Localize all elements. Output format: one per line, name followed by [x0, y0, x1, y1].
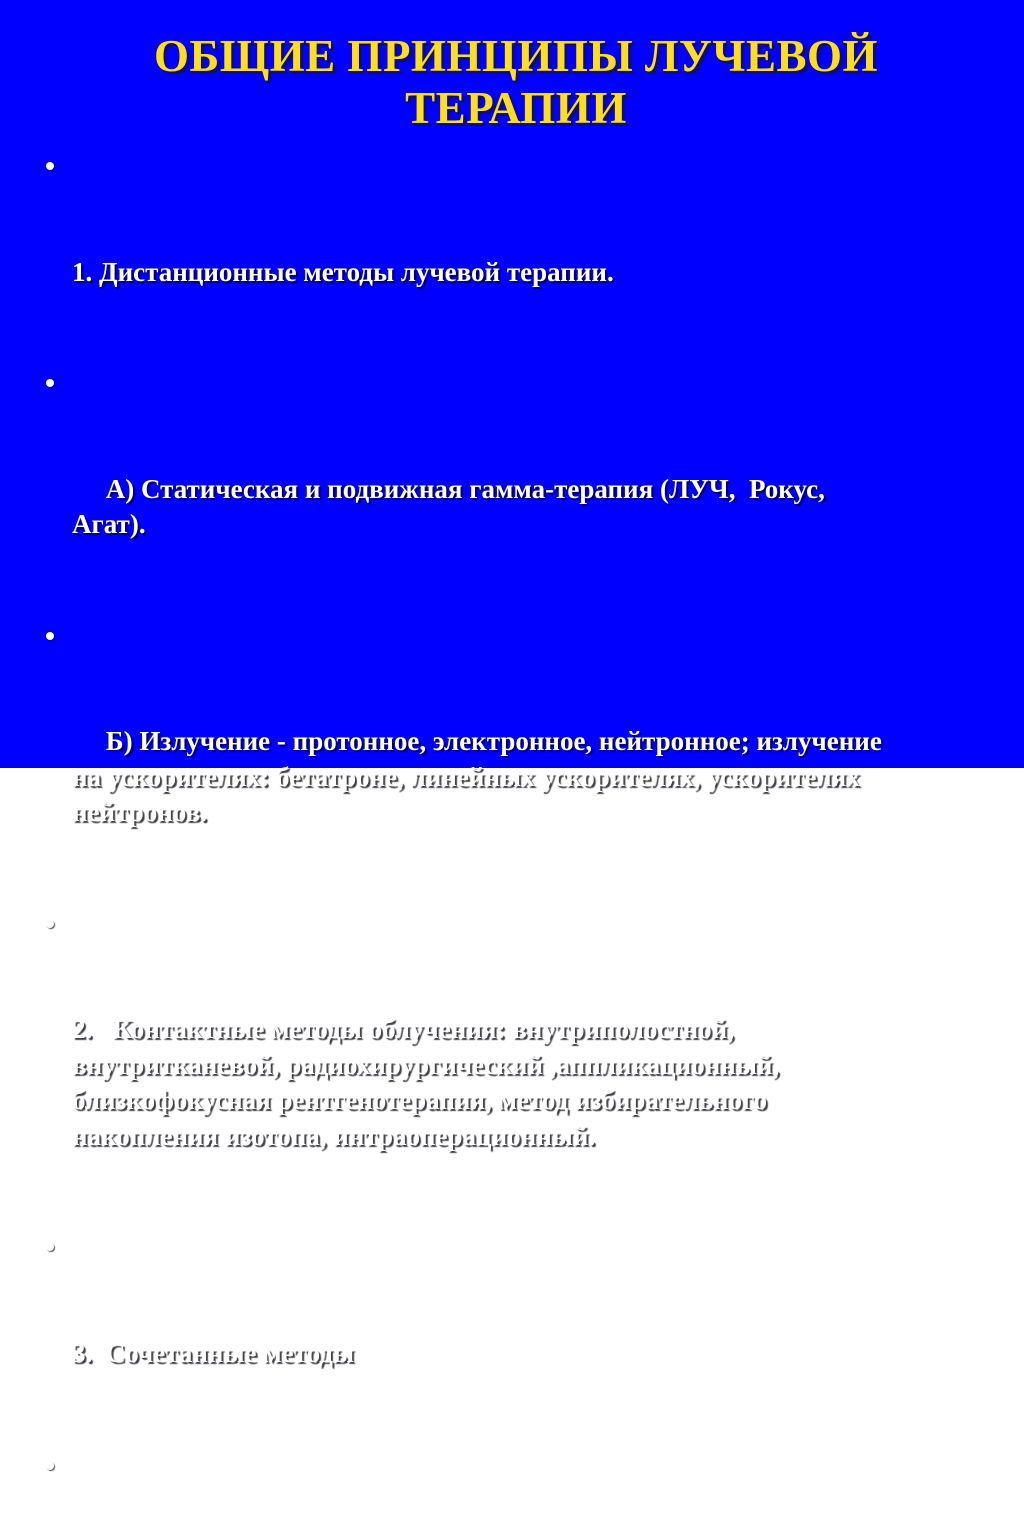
presentation-slide: ОБЩИЕ ПРИНЦИПЫ ЛУЧЕВОЙ ТЕРАПИИ 1. Дистан…: [0, 0, 1024, 768]
list-item: 4. Рентгенотерапия: статическая, подвижн…: [36, 1448, 902, 1536]
round-bullet-icon: [46, 1462, 54, 1470]
list-item-text: А) Статическая и подвижная гамма-терапия…: [72, 472, 902, 543]
slide-title-line-1: ОБЩИЕ ПРИНЦИПЫ ЛУЧЕВОЙ: [96, 30, 936, 82]
list-item-text: Б) Излучение - протонное, электронное, н…: [72, 724, 902, 831]
slide-title: ОБЩИЕ ПРИНЦИПЫ ЛУЧЕВОЙ ТЕРАПИИ: [96, 30, 936, 134]
list-item: 1. Дистанционные методы лучевой терапии.: [36, 148, 902, 361]
list-item: А) Статическая и подвижная гамма-терапия…: [36, 365, 902, 614]
round-bullet-icon: [46, 1243, 54, 1251]
slide-body-list: 1. Дистанционные методы лучевой терапии.…: [36, 148, 996, 1536]
list-item-text: 2. Контактные методы облучения: внутрипо…: [72, 1012, 902, 1154]
list-item: Б) Излучение - протонное, электронное, н…: [36, 618, 902, 902]
list-item-text: 3. Сочетанные методы: [72, 1336, 902, 1372]
round-bullet-icon: [46, 379, 54, 387]
slide-title-line-2: ТЕРАПИИ: [96, 82, 936, 134]
list-item-text: 1. Дистанционные методы лучевой терапии.: [72, 255, 902, 291]
round-bullet-icon: [46, 920, 54, 928]
list-item: 3. Сочетанные методы: [36, 1229, 902, 1442]
round-bullet-icon: [46, 632, 54, 640]
list-item: 2. Контактные методы облучения: внутрипо…: [36, 906, 902, 1226]
round-bullet-icon: [46, 162, 54, 170]
